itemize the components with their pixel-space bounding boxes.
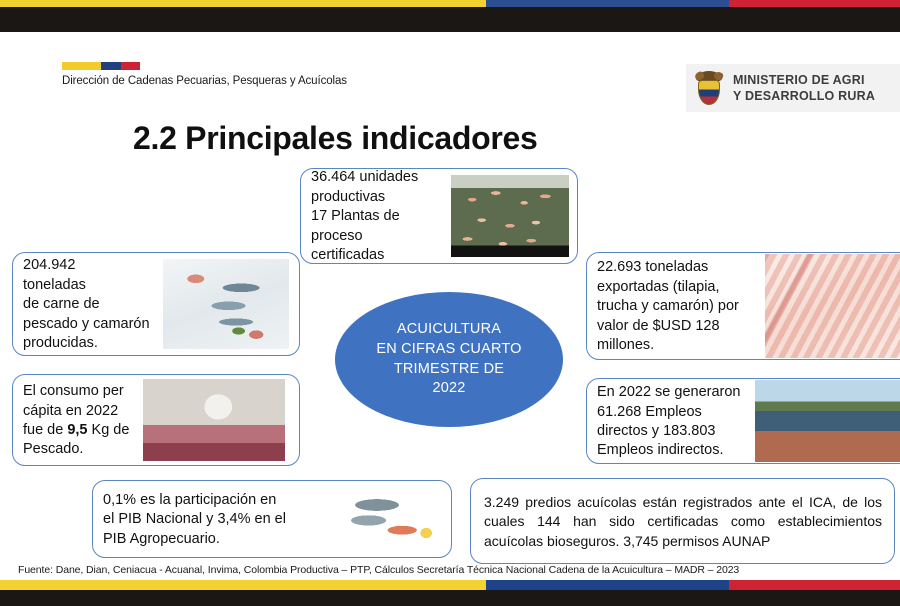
- callout-consumption-text: El consumo per cápita en 2022 fue de 9,5…: [13, 374, 143, 466]
- callout-gdp: 0,1% es la participación en el PIB Nacio…: [92, 480, 452, 558]
- flag-stripe-blue: [486, 0, 729, 7]
- callout-production: 204.942 toneladas de carne de pescado y …: [12, 252, 300, 356]
- flag-stripe-blue: [101, 62, 121, 70]
- callout-exports-text: 22.693 toneladas exportadas (tilapia, tr…: [587, 252, 765, 360]
- top-flag-bar: [0, 0, 900, 7]
- callout-registry: 3.249 predios acuícolas están registrado…: [470, 478, 895, 564]
- employment-line1: En 2022 se generaron: [597, 383, 749, 402]
- production-line1: 204.942: [23, 256, 157, 275]
- slide-canvas: Dirección de Cadenas Pecuarias, Pesquera…: [0, 0, 900, 606]
- callout-units: 36.464 unidades productivas 17 Plantas d…: [300, 168, 578, 264]
- gdp-line2: el PIB Nacional y 3,4% en el: [103, 510, 317, 529]
- bottom-dark-bar: [0, 590, 900, 606]
- employment-line4: Empleos indirectos.: [597, 441, 749, 460]
- units-line3: 17 Plantas de proceso: [311, 207, 445, 246]
- flag-stripe-red: [729, 580, 900, 590]
- exports-line5: millones.: [597, 336, 759, 355]
- callout-registry-text: 3.249 predios acuícolas están registrado…: [471, 485, 894, 556]
- consumption-value: 9,5: [67, 422, 87, 438]
- callout-employment-text: En 2022 se generaron 61.268 Empleos dire…: [587, 378, 755, 464]
- flag-stripe-blue: [486, 580, 729, 590]
- units-line4: certificadas: [311, 246, 445, 264]
- consumption-line3-pre: fue de: [23, 422, 67, 438]
- exports-line1: 22.693 toneladas: [597, 258, 759, 277]
- center-line3: TRIMESTRE DE: [376, 360, 521, 380]
- ministry-name-line1: MINISTERIO DE AGRI: [733, 72, 875, 88]
- coat-of-arms-icon: [694, 70, 724, 106]
- page-title: 2.2 Principales indicadores: [133, 120, 538, 157]
- callout-employment: En 2022 se generaron 61.268 Empleos dire…: [586, 378, 900, 464]
- production-line4: pescado y camarón: [23, 315, 157, 334]
- center-ellipse-text: ACUICULTURA EN CIFRAS CUARTO TRIMESTRE D…: [376, 320, 521, 399]
- exports-line2: exportadas (tilapia,: [597, 278, 759, 297]
- consumption-line3-post: Kg de: [88, 422, 130, 438]
- center-ellipse: ACUICULTURA EN CIFRAS CUARTO TRIMESTRE D…: [335, 292, 563, 427]
- tilapia-fillet-photo: [765, 254, 900, 358]
- bottom-flag-bar: [0, 580, 900, 590]
- production-line3: de carne de: [23, 295, 157, 314]
- gdp-line1: 0,1% es la participación en: [103, 491, 317, 510]
- flag-stripe-yellow: [62, 62, 101, 70]
- flag-stripe-yellow: [0, 580, 486, 590]
- exports-line3: trucha y camarón) por: [597, 297, 759, 316]
- consumption-line1: El consumo per: [23, 382, 137, 401]
- center-line1: ACUICULTURA: [376, 320, 521, 340]
- production-line2: toneladas: [23, 276, 157, 295]
- processing-plant-photo: [143, 379, 285, 461]
- direction-block: Dirección de Cadenas Pecuarias, Pesquera…: [62, 62, 482, 87]
- callout-exports: 22.693 toneladas exportadas (tilapia, tr…: [586, 252, 900, 360]
- center-line2: EN CIFRAS CUARTO: [376, 340, 521, 360]
- employment-line3: directos y 183.803: [597, 422, 749, 441]
- callout-production-text: 204.942 toneladas de carne de pescado y …: [13, 252, 163, 356]
- exports-line4: valor de $USD 128: [597, 317, 759, 336]
- ministry-logo: MINISTERIO DE AGRI Y DESARROLLO RURA: [686, 64, 900, 112]
- units-line2: productivas: [311, 188, 445, 207]
- shrimp-pond-photo: [451, 175, 569, 257]
- consumption-line2: cápita en 2022: [23, 402, 137, 421]
- direction-label: Dirección de Cadenas Pecuarias, Pesquera…: [62, 75, 482, 87]
- consumption-line3: fue de 9,5 Kg de: [23, 421, 137, 440]
- gdp-line3: PIB Agropecuario.: [103, 530, 317, 549]
- ministry-name-line2: Y DESARROLLO RURA: [733, 88, 875, 104]
- callout-gdp-text: 0,1% es la participación en el PIB Nacio…: [93, 483, 323, 555]
- fish-cage-photo: [755, 380, 900, 462]
- ministry-name: MINISTERIO DE AGRI Y DESARROLLO RURA: [733, 72, 875, 104]
- flag-stripe-red: [121, 62, 141, 70]
- consumption-line4: Pescado.: [23, 440, 137, 459]
- callout-units-text: 36.464 unidades productivas 17 Plantas d…: [301, 168, 451, 264]
- source-note: Fuente: Dane, Dian, Ceniacua - Acuanal, …: [18, 564, 739, 576]
- production-line5: producidas.: [23, 334, 157, 353]
- units-line1: 36.464 unidades: [311, 168, 445, 187]
- colombia-flag-icon: [62, 62, 140, 70]
- top-dark-bar: [0, 7, 900, 32]
- callout-consumption: El consumo per cápita en 2022 fue de 9,5…: [12, 374, 300, 466]
- shield-crest-icon: [698, 80, 720, 105]
- employment-line2: 61.268 Empleos: [597, 403, 749, 422]
- fish-on-ice-photo: [163, 259, 289, 349]
- center-line4: 2022: [376, 379, 521, 399]
- flag-stripe-yellow: [0, 0, 486, 7]
- fish-and-shrimp-photo: [323, 484, 443, 554]
- flag-stripe-red: [729, 0, 900, 7]
